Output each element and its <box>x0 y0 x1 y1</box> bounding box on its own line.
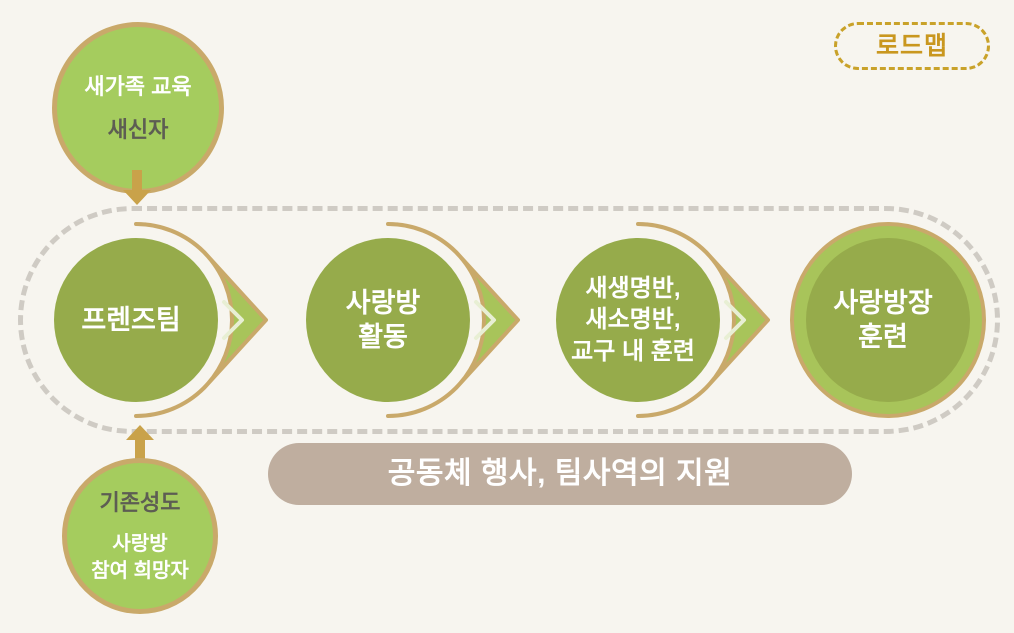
entry-node-line-2: 새신자 <box>108 115 169 144</box>
arrow-up-icon <box>125 424 155 460</box>
existing-node-line-1: 기존성도 <box>100 488 181 517</box>
entry-node-line-1: 새가족 교육 <box>84 72 191 101</box>
support-banner: 공동체 행사, 팀사역의 지원 <box>268 443 852 505</box>
flow-step-2[interactable]: 사랑방 활동 <box>290 222 486 418</box>
arrow-down-icon <box>122 170 152 206</box>
entry-node-existing-member[interactable]: 기존성도 사랑방 참여 희망자 <box>62 458 218 614</box>
flow-step-4[interactable]: 사랑방장 훈련 <box>790 222 986 418</box>
support-banner-label: 공동체 행사, 팀사역의 지원 <box>388 459 732 489</box>
roadmap-diagram: 로드맵 새가족 교육 새신자 프렌즈팀 사랑방 활동 <box>0 0 1014 633</box>
existing-node-line-3: 참여 희망자 <box>91 558 189 584</box>
flow-step-1[interactable]: 프렌즈팀 <box>38 222 234 418</box>
roadmap-badge-label: 로드맵 <box>876 34 948 59</box>
flow-step-3[interactable]: 새생명반, 새소명반, 교구 내 훈련 <box>540 222 736 418</box>
existing-node-line-2: 사랑방 <box>112 531 167 557</box>
entry-node-new-family[interactable]: 새가족 교육 새신자 <box>52 22 224 194</box>
roadmap-badge: 로드맵 <box>834 22 990 70</box>
